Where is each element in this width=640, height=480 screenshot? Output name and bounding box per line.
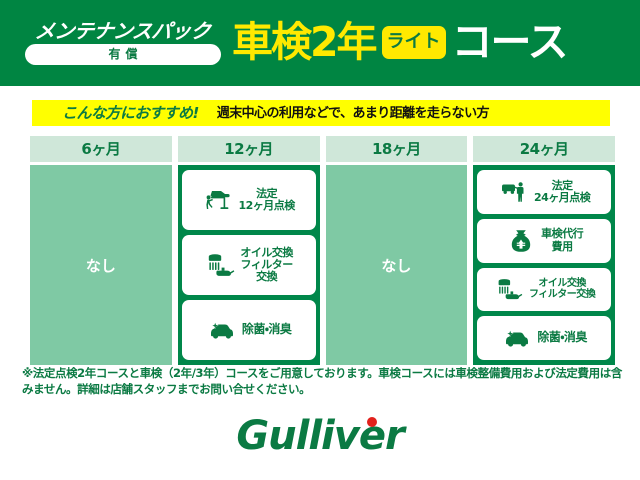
brand-logo-text: Gulliver xyxy=(236,413,403,459)
plan-empty-label-18m: なし xyxy=(381,255,411,276)
plan-table: 6ヶ月 なし 12ヶ月 xyxy=(30,136,615,365)
service-card-statutory-24m-inspection: 法定 24ヶ月点検 xyxy=(477,170,611,214)
service-card-label: 法定 12ヶ月点検 xyxy=(238,188,294,213)
sparkle-car-icon xyxy=(501,328,533,348)
plan-column-body-24m: 法定 24ヶ月点検 車検代行 費用 xyxy=(473,165,615,365)
maintenance-pack-group: メンテナンスパック 有償 xyxy=(0,21,232,65)
service-card-label: 法定 24ヶ月点検 xyxy=(534,180,590,205)
service-card-statutory-12m-inspection: 法定 12ヶ月点検 xyxy=(182,170,316,230)
service-card-label: オイル交換 フィルター交換 xyxy=(529,278,595,300)
plan-column-6m: 6ヶ月 なし xyxy=(30,136,172,365)
service-card-label: オイル交換 フィルター 交換 xyxy=(240,247,293,284)
service-card-sanitize-deodorize-24m: 除菌・消臭 xyxy=(477,316,611,360)
recommendation-banner: こんな方におすすめ! 週末中心の利用などで、あまり距離を走らない方 xyxy=(32,100,610,126)
brand-logo: Gulliver xyxy=(0,416,640,456)
plan-column-header-24m: 24ヶ月 xyxy=(473,136,615,162)
plan-empty-label-6m: なし xyxy=(86,255,116,276)
service-card-inspection-agency-fee: 車検代行 費用 xyxy=(477,219,611,263)
car-inspection-icon xyxy=(498,180,530,204)
course-light-badge: ライト xyxy=(382,26,446,59)
plan-column-18m: 18ヶ月 なし xyxy=(326,136,468,365)
promo-banner: メンテナンスパック 有償 車検2年 ライト コース こんな方におすすめ! 週末中… xyxy=(0,0,640,480)
plan-column-header-18m: 18ヶ月 xyxy=(326,136,468,162)
course-title-suffix: コース xyxy=(452,22,567,63)
paid-badge: 有償 xyxy=(25,44,221,65)
service-card-label: 車検代行 費用 xyxy=(541,228,583,253)
plan-column-header-12m: 12ヶ月 xyxy=(178,136,320,162)
recommendation-description: 週末中心の利用などで、あまり距離を走らない方 xyxy=(217,107,489,120)
footnote-text: ※法定点検2年コースと車検（2年/3年）コースをご用意しております。車検コースに… xyxy=(22,366,622,397)
header-band: メンテナンスパック 有償 車検2年 ライト コース xyxy=(0,0,640,86)
course-title-primary: 車検2年 xyxy=(232,22,376,63)
service-card-oil-filter-change-24m: オイル交換 フィルター交換 xyxy=(477,268,611,312)
course-title-group: 車検2年 ライト コース xyxy=(232,22,640,65)
plan-column-body-12m: 法定 12ヶ月点検 xyxy=(178,165,320,365)
plan-column-body-18m: なし xyxy=(326,165,468,365)
plan-column-24m: 24ヶ月 法定 24ヶ月点検 xyxy=(473,136,615,365)
service-card-label: 除菌・消臭 xyxy=(242,323,292,336)
money-bag-yen-icon xyxy=(505,228,537,254)
car-on-lift-icon xyxy=(202,187,234,213)
oil-filter-can-icon xyxy=(493,276,525,302)
sparkle-car-icon xyxy=(206,320,238,340)
service-card-sanitize-deodorize-12m: 除菌・消臭 xyxy=(182,300,316,360)
oil-filter-can-icon xyxy=(204,251,236,279)
plan-column-body-6m: なし xyxy=(30,165,172,365)
plan-column-12m: 12ヶ月 法定 12ヶ月点検 xyxy=(178,136,320,365)
service-card-label: 除菌・消臭 xyxy=(537,331,587,344)
plan-column-header-6m: 6ヶ月 xyxy=(30,136,172,162)
service-card-oil-filter-change-12m: オイル交換 フィルター 交換 xyxy=(182,235,316,295)
recommendation-heading: こんな方におすすめ! xyxy=(62,106,199,121)
maintenance-pack-title: メンテナンスパック xyxy=(34,21,211,41)
